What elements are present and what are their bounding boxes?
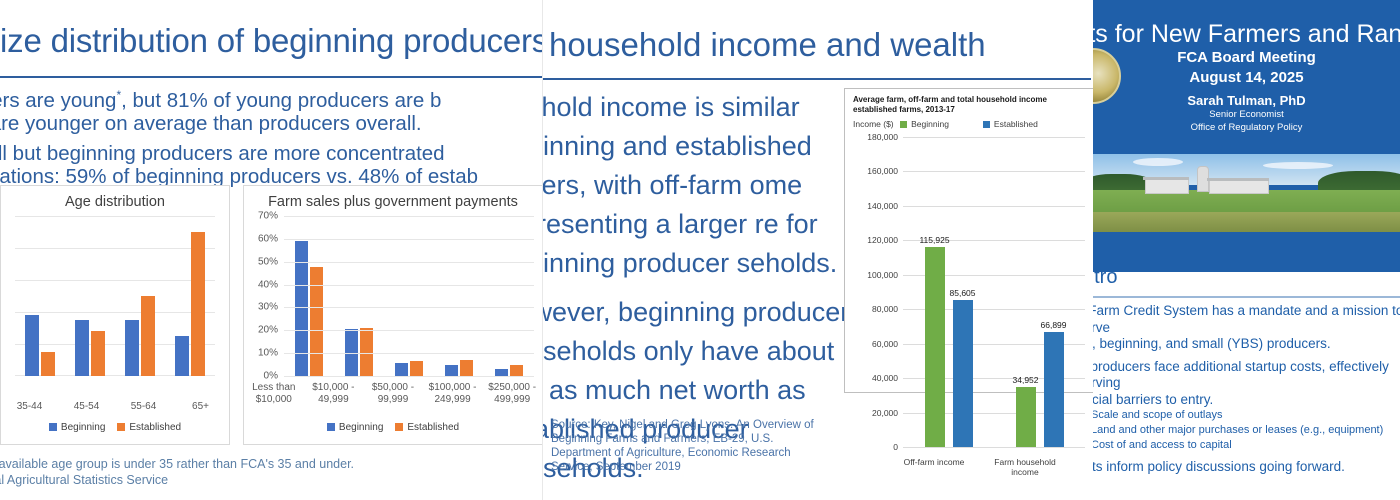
bar-established <box>41 352 55 376</box>
slide3-bullet-5: ghts inform policy discussions going for… <box>1093 459 1400 476</box>
bar-beginning <box>495 369 508 376</box>
y-tick-label: 70% <box>248 211 278 222</box>
slide2-source: Source: Key, Nigel and Greg Lyons. An Ov… <box>551 418 821 474</box>
x-tick-label: Less than$10,000 <box>246 382 302 405</box>
slide3-subbullet-2: Land and other major purchases or leases… <box>1093 423 1400 438</box>
chart-farm-sales[interactable]: Farm sales plus government payments 0%10… <box>243 185 543 445</box>
legend-label-beginning: Beginning <box>61 422 105 433</box>
y-tick-label: 140,000 <box>867 201 898 211</box>
slide3-presenter-role: Senior Economist <box>1093 108 1400 121</box>
slide1-bullet-list: of beginning producers are young*, but 8… <box>0 84 545 189</box>
bar-beginning <box>125 320 139 376</box>
embedded-chart-xlabel-2: Farm household income <box>985 457 1065 477</box>
bar-beginning: 115,925 <box>925 247 945 447</box>
bar-beginning <box>25 315 39 376</box>
y-tick-label: 50% <box>248 256 278 267</box>
slide3-subbullet-1: Scale and scope of outlays <box>1093 408 1400 423</box>
bar-value-label: 115,925 <box>919 235 949 245</box>
farm-photograph <box>1093 154 1400 232</box>
slide-age-and-farm-size[interactable]: e and farm size distribution of beginnin… <box>0 0 545 500</box>
chart-sales-legend: Beginning Established <box>244 422 542 433</box>
x-tick-label: $100,000 -249,999 <box>425 382 481 405</box>
slide1-title: e and farm size distribution of beginnin… <box>0 22 519 60</box>
bar-group <box>175 216 205 376</box>
slide2-title-rule <box>543 78 1091 80</box>
bar-established: 66,899 <box>1044 332 1064 447</box>
y-tick-label: 30% <box>248 302 278 313</box>
slide1-title-rule <box>0 76 545 78</box>
y-tick-label: 180,000 <box>867 132 898 142</box>
slide-overview-canvas: e and farm size distribution of beginnin… <box>0 0 1400 500</box>
chart-sales-bars <box>284 216 534 376</box>
legend-label-beginning: Beginning <box>911 119 949 129</box>
bar-established <box>360 328 373 376</box>
x-tick-label: 35-44 <box>2 401 58 413</box>
y-tick-label: 80,000 <box>872 304 898 314</box>
x-tick-label: $250,000 -499,999 <box>484 382 540 405</box>
y-tick-label: 10% <box>248 348 278 359</box>
y-tick-label: 60% <box>248 233 278 244</box>
bar-group: 115,92585,605 <box>925 137 973 447</box>
chart-household-income-embedded[interactable]: Average farm, off-farm and total househo… <box>844 88 1094 393</box>
chart-age-title: Age distribution <box>1 186 229 210</box>
slide3-presenter-name: Sarah Tulman, PhD <box>1093 93 1400 108</box>
bar-established <box>191 232 205 376</box>
bar-value-label: 85,605 <box>950 288 976 298</box>
y-tick-label: 20% <box>248 325 278 336</box>
slide3-presenter-office: Office of Regulatory Policy <box>1093 121 1400 134</box>
bar-established <box>510 365 523 376</box>
y-tick-label: 60,000 <box>872 339 898 349</box>
chart-age-bars <box>15 216 215 376</box>
slide3-subtitle: FCA Board Meeting August 14, 2025 <box>1093 48 1400 88</box>
bar-group <box>395 216 423 376</box>
embedded-chart-xlabel-1: Off-farm income <box>889 457 979 467</box>
y-tick-label: 120,000 <box>867 235 898 245</box>
bar-beginning <box>445 365 458 376</box>
bar-group: 34,95266,899 <box>1016 137 1064 447</box>
slide1-bullet-2: nning producers are younger on average t… <box>0 112 545 136</box>
y-tick-label: 20,000 <box>872 408 898 418</box>
slide3-meeting: FCA Board Meeting <box>1093 48 1400 68</box>
slide3-presenter-block: Sarah Tulman, PhD Senior Economist Offic… <box>1093 93 1400 134</box>
x-tick-label: 55-64 <box>116 401 172 413</box>
slide3-section-heading: ntro <box>1093 266 1117 289</box>
chart-age-distribution[interactable]: Age distribution 35-4445-5455-6465+ Begi… <box>0 185 230 445</box>
bar-established <box>410 361 423 376</box>
chart-sales-title: Farm sales plus government payments <box>244 186 542 210</box>
bar-established <box>141 296 155 376</box>
legend-label-established: Established <box>994 119 1038 129</box>
chart-age-xaxis: 35-4445-5455-6465+ <box>1 401 229 413</box>
slide3-bullet-3: w producers face additional startup cost… <box>1093 359 1400 392</box>
slide1-footnote-1: sus of Agriculture public data, the avai… <box>0 456 545 472</box>
slide1-bullet-3: t operations are small but beginning pro… <box>0 142 545 166</box>
bar-beginning <box>395 363 408 376</box>
bar-value-label: 34,952 <box>1013 375 1039 385</box>
bar-established <box>460 360 473 376</box>
legend-label-beginning: Beginning <box>339 422 383 433</box>
y-tick-label: 100,000 <box>867 270 898 280</box>
bar-beginning <box>175 336 189 376</box>
slide3-title-band: tartup Costs for New Farmers and Ranc FC… <box>1093 0 1400 272</box>
bar-group <box>445 216 473 376</box>
bar-group <box>345 216 373 376</box>
x-tick-label: 45-54 <box>59 401 115 413</box>
y-tick-label: 160,000 <box>867 166 898 176</box>
legend-label-established: Established <box>129 422 181 433</box>
x-tick-label: $10,000 -49,999 <box>305 382 361 405</box>
chart-sales-xaxis: Less than$10,000$10,000 -49,999$50,000 -… <box>244 382 542 405</box>
slide3-bullet-list: e Farm Credit System has a mandate and a… <box>1093 303 1400 476</box>
slide3-title: tartup Costs for New Farmers and Ranc <box>1093 20 1400 49</box>
x-tick-label: 65+ <box>173 401 229 413</box>
slide1-footnote-2: nsus of Agriculture, USDA National Agric… <box>0 472 545 488</box>
slide2-title: rom household income and wealth <box>543 26 986 64</box>
bar-beginning: 34,952 <box>1016 387 1036 447</box>
slide-title-and-intro[interactable]: tartup Costs for New Farmers and Ranc FC… <box>1093 0 1400 500</box>
bar-group <box>25 216 55 376</box>
slide3-section-rule <box>1093 296 1400 298</box>
bar-established <box>91 331 105 376</box>
embedded-chart-legend: Beginning Established <box>845 119 1093 129</box>
slide3-bullet-2: ng, beginning, and small (YBS) producers… <box>1093 336 1400 353</box>
y-tick-label: 40% <box>248 279 278 290</box>
slide-household-income-wealth[interactable]: rom household income and wealth usehold … <box>543 0 1103 500</box>
slide3-bullet-4: ancial barriers to entry. <box>1093 392 1400 409</box>
bar-group <box>295 216 323 376</box>
bar-beginning <box>75 320 89 376</box>
slide1-bullet-1: of beginning producers are young*, but 8… <box>0 84 545 112</box>
slide3-subbullet-3: Cost of and access to capital <box>1093 438 1400 453</box>
slide2-para-1: usehold income is similar beginning and … <box>543 88 858 283</box>
y-tick-label: 0% <box>248 371 278 382</box>
bar-group <box>75 216 105 376</box>
y-tick-label: 40,000 <box>872 373 898 383</box>
slide3-bullet-1: e Farm Credit System has a mandate and a… <box>1093 303 1400 336</box>
y-tick-label: 0 <box>893 442 898 452</box>
bar-group <box>125 216 155 376</box>
chart-age-legend: Beginning Established <box>1 422 229 433</box>
embedded-chart-title: Average farm, off-farm and total househo… <box>845 89 1093 115</box>
x-tick-label: $50,000 -99,999 <box>365 382 421 405</box>
bar-group <box>495 216 523 376</box>
embedded-chart-plot: 020,00040,00060,00080,000100,000120,0001… <box>903 137 1085 447</box>
slide3-date: August 14, 2025 <box>1093 68 1400 88</box>
legend-label-established: Established <box>407 422 459 433</box>
bar-established: 85,605 <box>953 300 973 447</box>
bar-value-label: 66,899 <box>1041 320 1067 330</box>
